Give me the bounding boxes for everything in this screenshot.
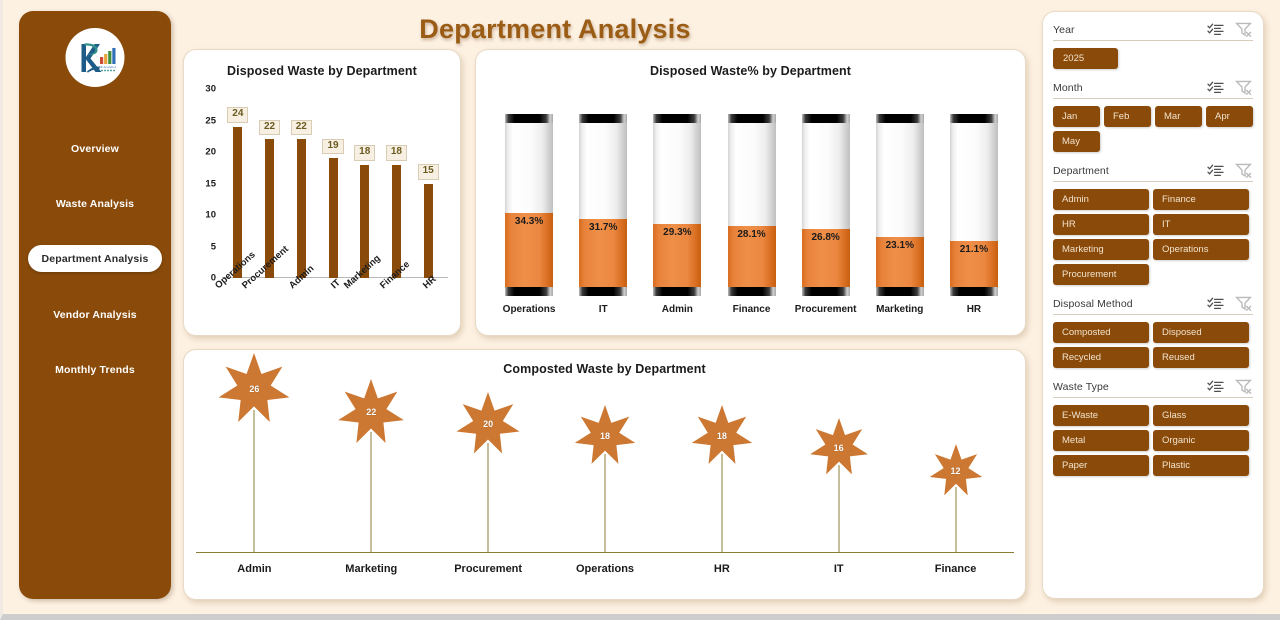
x-axis-category-label: Operations <box>503 304 556 315</box>
slicer-options: E-WasteGlassMetalOrganicPaperPlastic <box>1053 398 1253 476</box>
clear-filter-icon[interactable] <box>1235 163 1253 178</box>
sidebar-item-label: Monthly Trends <box>55 364 135 376</box>
slicer-option[interactable]: Admin <box>1053 189 1149 210</box>
checklist-icon <box>1207 81 1224 95</box>
bar-column[interactable]: 19IT <box>319 89 347 278</box>
sidebar-item-overview[interactable]: Overview <box>30 135 160 163</box>
star-stem <box>488 443 489 553</box>
bar-rect[interactable] <box>297 139 306 278</box>
cylinder-tube <box>802 114 850 296</box>
slicer-month: Month JanFebMarAprMay <box>1053 80 1253 152</box>
clear-filter-icon <box>1235 379 1253 394</box>
bar-column[interactable]: 22Admin <box>287 89 315 278</box>
slicer-option[interactable]: Procurement <box>1053 264 1149 285</box>
star-column[interactable]: 26Admin <box>214 388 294 553</box>
cylinder-tube <box>950 114 998 296</box>
star-marker[interactable]: 20 <box>456 392 521 457</box>
slicer-year: Year 2025 <box>1053 22 1253 69</box>
cylinder-tube <box>579 114 627 296</box>
chart-title: Composted Waste by Department <box>184 362 1025 376</box>
checklist-icon <box>1207 164 1224 178</box>
y-axis-tick: 5 <box>211 241 216 252</box>
star-data-label: 20 <box>483 419 493 429</box>
sidebar-item-label: Department Analysis <box>42 253 149 265</box>
cylinder-gauge[interactable]: 23.1%Marketing <box>872 110 928 315</box>
slicer-icon-group <box>1207 163 1253 178</box>
bar-data-label: 24 <box>227 107 248 123</box>
clear-filter-icon[interactable] <box>1235 80 1253 95</box>
bar-rect[interactable] <box>392 165 401 278</box>
x-axis-category-label: HR <box>967 304 981 315</box>
star-stem <box>838 465 839 553</box>
slicer-option[interactable]: HR <box>1053 214 1149 235</box>
slicer-options: JanFebMarAprMay <box>1053 99 1253 152</box>
slicer-option[interactable]: Jan <box>1053 106 1100 127</box>
star-data-label: 22 <box>366 407 376 417</box>
x-axis-category-label: Finance <box>733 304 771 315</box>
cylinder-cap-top <box>579 114 627 123</box>
x-axis-category-label: Operations <box>576 563 634 575</box>
chart-title: Disposed Waste% by Department <box>476 64 1025 78</box>
star-stem <box>254 410 255 553</box>
star-column[interactable]: 20Procurement <box>448 388 528 553</box>
cylinder-tube <box>505 114 553 296</box>
cylinder-data-label: 23.1% <box>886 240 914 251</box>
cylinder-cap-top <box>728 114 776 123</box>
x-axis-category-label: Marketing <box>876 304 923 315</box>
slicer-option[interactable]: Plastic <box>1153 455 1249 476</box>
slicer-disposal-method: Disposal Method CompostedDisposedRecycle… <box>1053 296 1253 368</box>
slicer-title: Year <box>1053 24 1075 36</box>
sidebar-item-label: Vendor Analysis <box>53 309 137 321</box>
cylinder-gauge[interactable]: 29.3%Admin <box>649 110 705 315</box>
slicer-header: Month <box>1053 80 1253 99</box>
cylinder-tube <box>876 114 924 296</box>
x-axis-category-label: Admin <box>237 563 271 575</box>
checklist-icon[interactable] <box>1207 81 1224 95</box>
slicer-option[interactable]: Marketing <box>1053 239 1149 260</box>
slicer-option[interactable]: E-Waste <box>1053 405 1149 426</box>
x-axis-category-label: Finance <box>935 563 977 575</box>
star-stem <box>605 454 606 553</box>
slicer-option[interactable]: Composted <box>1053 322 1149 343</box>
checklist-icon[interactable] <box>1207 164 1224 178</box>
slicer-icon-group <box>1207 22 1253 37</box>
cylinder-cap-top <box>505 114 553 123</box>
slicer-option[interactable]: IT <box>1153 214 1249 235</box>
clear-filter-icon[interactable] <box>1235 296 1253 311</box>
bar-rect[interactable] <box>424 184 433 279</box>
cylinder-gauge[interactable]: 21.1%HR <box>946 110 1002 315</box>
x-axis-category-label: Marketing <box>345 563 397 575</box>
slicer-options: AdminFinanceHRITMarketingOperationsProcu… <box>1053 182 1253 285</box>
clear-filter-icon <box>1235 22 1253 37</box>
cylinder-cap-bottom <box>950 287 998 296</box>
cylinder-data-label: 21.1% <box>960 244 988 255</box>
checklist-icon <box>1207 23 1224 37</box>
bar-rect[interactable] <box>233 127 242 278</box>
checklist-icon[interactable] <box>1207 23 1224 37</box>
cylinder-cap-bottom <box>505 287 553 296</box>
cylinder-cap-bottom <box>802 287 850 296</box>
slicer-options: 2025 <box>1053 41 1253 69</box>
slicer-header: Disposal Method <box>1053 296 1253 315</box>
y-axis-tick: 15 <box>205 178 216 189</box>
sidebar-item-label: Overview <box>71 143 119 155</box>
star-data-label: 16 <box>834 443 844 453</box>
y-axis-tick: 25 <box>205 115 216 126</box>
cylinder-data-label: 28.1% <box>737 229 765 240</box>
disposed-waste-pct-chart-card: Disposed Waste% by Department 34.3%Opera… <box>475 49 1026 336</box>
cylinder-chart-plot-area: 34.3%Operations31.7%IT29.3%Admin28.1%Fin… <box>492 110 1011 315</box>
cylinder-gauge[interactable]: 31.7%IT <box>575 110 631 315</box>
x-axis-category-label: Admin <box>662 304 693 315</box>
dashboard-page: RK Analytics Overview Waste Analysis Dep… <box>0 0 1280 620</box>
x-axis-category-label: Procurement <box>795 304 857 315</box>
slicer-option[interactable]: May <box>1053 131 1100 152</box>
clear-filter-icon[interactable] <box>1235 22 1253 37</box>
star-marker[interactable]: 12 <box>929 444 983 498</box>
clear-filter-icon <box>1235 80 1253 95</box>
star-column[interactable]: 18HR <box>682 388 762 553</box>
slicer-header: Year <box>1053 22 1253 41</box>
star-stem <box>371 432 372 553</box>
checklist-icon[interactable] <box>1207 297 1224 311</box>
clear-filter-icon <box>1235 296 1253 311</box>
sidebar-item-waste-analysis[interactable]: Waste Analysis <box>30 190 160 218</box>
page-title-text: Department Analysis <box>419 14 690 44</box>
star-marker[interactable]: 16 <box>809 418 868 477</box>
y-axis-tick: 20 <box>205 147 216 158</box>
cylinder-gauge[interactable]: 26.8%Procurement <box>798 110 854 315</box>
slicer-title: Month <box>1053 82 1083 94</box>
slicer-icon-group <box>1207 379 1253 394</box>
slicer-waste-type: Waste Type E-WasteGlassMetalOrganicPaper… <box>1053 379 1253 476</box>
sidebar-item-vendor-analysis[interactable]: Vendor Analysis <box>30 301 160 329</box>
clear-filter-icon[interactable] <box>1235 379 1253 394</box>
sidebar-item-monthly-trends[interactable]: Monthly Trends <box>30 356 160 384</box>
bar-rect[interactable] <box>329 158 338 278</box>
star-stem <box>721 454 722 553</box>
cylinder-tube <box>728 114 776 296</box>
slicer-option[interactable]: 2025 <box>1053 48 1118 69</box>
cylinder-cap-bottom <box>728 287 776 296</box>
slicer-icon-group <box>1207 296 1253 311</box>
sidebar-item-label: Waste Analysis <box>56 198 134 210</box>
slicer-option[interactable]: Recycled <box>1053 347 1149 368</box>
slicer-option[interactable]: Disposed <box>1153 322 1249 343</box>
cylinder-gauge[interactable]: 28.1%Finance <box>724 110 780 315</box>
checklist-icon[interactable] <box>1207 380 1224 394</box>
star-column[interactable]: 12Finance <box>916 388 996 553</box>
slicer-options: CompostedDisposedRecycledReused <box>1053 315 1253 368</box>
slicer-icon-group <box>1207 80 1253 95</box>
disposed-waste-bar-chart-card: Disposed Waste by Department 30252015105… <box>183 49 461 336</box>
cylinder-tube <box>653 114 701 296</box>
cylinder-data-label: 34.3% <box>515 216 543 227</box>
star-column[interactable]: 18Operations <box>565 388 645 553</box>
y-axis-tick: 10 <box>205 210 216 221</box>
slicer-option[interactable]: Operations <box>1153 239 1249 260</box>
composted-waste-chart-card: Composted Waste by Department 26Admin22M… <box>183 349 1026 600</box>
cylinder-data-label: 29.3% <box>663 227 691 238</box>
cylinder-data-label: 31.7% <box>589 222 617 233</box>
cylinder-cap-bottom <box>876 287 924 296</box>
star-column[interactable]: 16IT <box>799 388 879 553</box>
star-marker[interactable]: 18 <box>574 405 636 467</box>
bar-column[interactable]: 15HR <box>414 89 442 278</box>
star-data-label: 12 <box>951 466 961 476</box>
cylinder-gauge[interactable]: 34.3%Operations <box>501 110 557 315</box>
slicer-header: Waste Type <box>1053 379 1253 398</box>
slicer-title: Disposal Method <box>1053 298 1133 310</box>
cylinder-cap-top <box>653 114 701 123</box>
star-column[interactable]: 22Marketing <box>331 388 411 553</box>
star-data-label: 26 <box>249 384 259 394</box>
cylinder-cap-bottom <box>653 287 701 296</box>
slicer-option[interactable]: Feb <box>1104 106 1151 127</box>
star-marker[interactable]: 18 <box>691 405 753 467</box>
x-axis-category-label: IT <box>599 304 608 315</box>
y-axis-tick: 30 <box>205 84 216 95</box>
bar-data-label: 18 <box>386 145 407 161</box>
star-marker[interactable]: 22 <box>338 379 405 446</box>
slicer-title: Waste Type <box>1053 381 1109 393</box>
slicer-option[interactable]: Metal <box>1053 430 1149 451</box>
slicer-option[interactable]: Paper <box>1053 455 1149 476</box>
cylinder-cap-bottom <box>579 287 627 296</box>
cylinder-cap-top <box>876 114 924 123</box>
cylinder-data-label: 26.8% <box>811 232 839 243</box>
slicer-title: Department <box>1053 165 1109 177</box>
slicer-option[interactable]: Finance <box>1153 189 1249 210</box>
cylinder-cap-top <box>802 114 850 123</box>
slicer-option[interactable]: Glass <box>1153 405 1249 426</box>
bar-column[interactable]: 22Procurement <box>256 89 284 278</box>
svg-text:RK Analytics: RK Analytics <box>98 65 116 69</box>
checklist-icon <box>1207 297 1224 311</box>
x-axis-category-label: IT <box>834 563 844 575</box>
x-axis-category-label: HR <box>714 563 730 575</box>
slicer-option[interactable]: Mar <box>1155 106 1202 127</box>
bar-column[interactable]: 18Finance <box>382 89 410 278</box>
chart-title: Disposed Waste by Department <box>184 64 460 78</box>
bar-data-label: 15 <box>418 164 439 180</box>
star-data-label: 18 <box>600 431 610 441</box>
bar-chart-plot-area: 30252015105024Operations22Procurement22A… <box>222 89 444 278</box>
bar-data-label: 18 <box>354 145 375 161</box>
bar-data-label: 19 <box>322 139 343 155</box>
cylinder-cap-top <box>950 114 998 123</box>
bar-data-label: 22 <box>259 120 280 136</box>
slicer-option[interactable]: Apr <box>1206 106 1253 127</box>
checklist-icon <box>1207 380 1224 394</box>
star-marker[interactable]: 26 <box>218 353 291 426</box>
bar-data-label: 22 <box>291 120 312 136</box>
slicer-department: Department AdminFinanceHRITMarketingOper… <box>1053 163 1253 285</box>
slicer-header: Department <box>1053 163 1253 182</box>
star-chart-plot-area: 26Admin22Marketing20Procurement18Operati… <box>196 388 1014 553</box>
x-axis-category-label: IT <box>329 277 343 291</box>
bar-column[interactable]: 24Operations <box>224 89 252 278</box>
star-data-label: 18 <box>717 431 727 441</box>
slicer-option[interactable]: Organic <box>1153 430 1249 451</box>
filter-panel: Year 2025Month JanFebMarAprMayDepartment <box>1042 11 1264 599</box>
sidebar-item-department-analysis[interactable]: Department Analysis <box>28 245 162 272</box>
bar-column[interactable]: 18Marketing <box>351 89 379 278</box>
x-axis-category-label: Procurement <box>454 563 522 575</box>
clear-filter-icon <box>1235 163 1253 178</box>
slicer-option[interactable]: Reused <box>1153 347 1249 368</box>
sidebar: RK Analytics Overview Waste Analysis Dep… <box>19 11 171 599</box>
